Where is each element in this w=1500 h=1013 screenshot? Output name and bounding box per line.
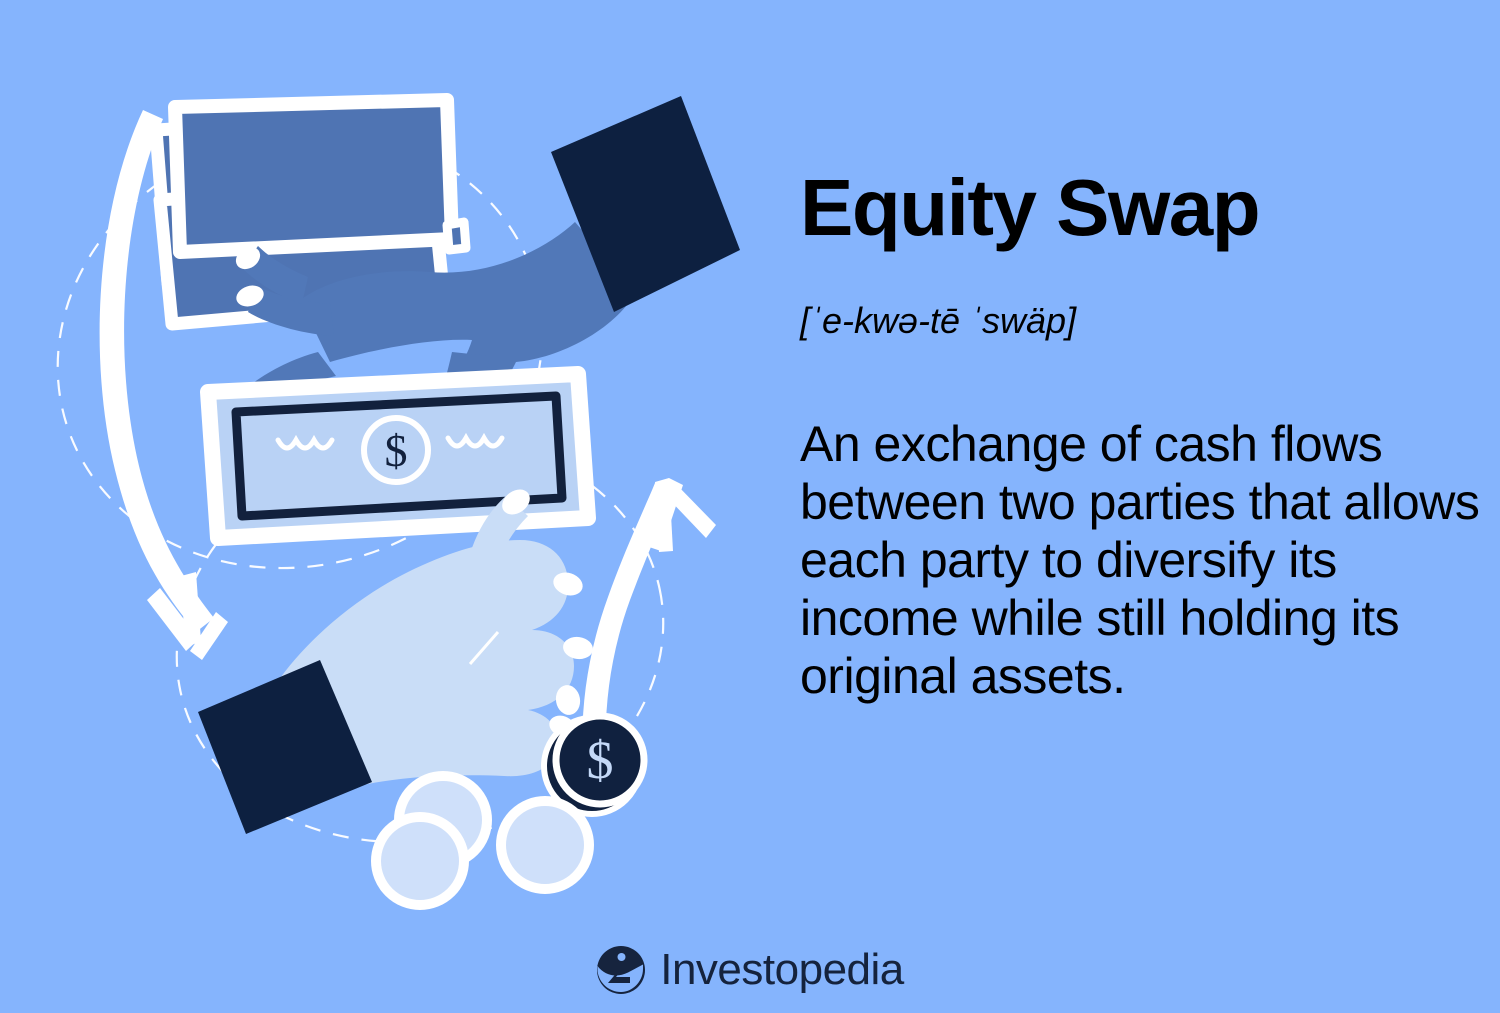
infographic-card: $	[0, 0, 1500, 1013]
banknote: $	[208, 374, 588, 538]
definition-panel: Equity Swap [ˈe-kwə-tē ˈswäp] An exchang…	[800, 0, 1480, 940]
banknote-dollar-sign: $	[385, 425, 408, 476]
brand-name: Investopedia	[660, 945, 904, 995]
brand-footer: Investopedia	[0, 945, 1500, 995]
svg-text:$: $	[587, 730, 614, 790]
equity-swap-illustration: $	[0, 0, 780, 940]
term-title: Equity Swap	[800, 168, 1259, 248]
term-pronunciation: [ˈe-kwə-tē ˈswäp]	[800, 300, 1076, 342]
term-definition: An exchange of cash flows between two pa…	[800, 415, 1480, 705]
investopedia-logo-icon	[596, 945, 646, 995]
